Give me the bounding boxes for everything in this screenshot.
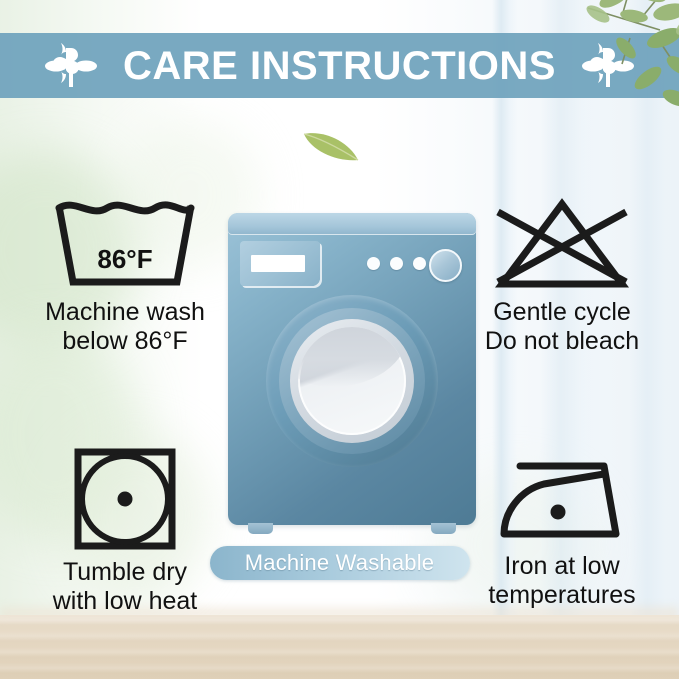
symbol-caption-machine-wash: Machine wash below 86°F [45, 298, 205, 356]
indicator-light [367, 257, 380, 270]
fleur-de-lis-right-icon [582, 43, 634, 89]
fleur-de-lis-left-icon [45, 43, 97, 89]
washer-door-glass [298, 327, 406, 435]
floating-leaf-icon [300, 124, 362, 166]
indicator-light [413, 257, 426, 270]
washing-machine-illustration [228, 213, 476, 525]
tumble-dry-low-icon [70, 446, 180, 552]
indicator-light [390, 257, 403, 270]
symbol-tumble-dry: Tumble dry with low heat [14, 446, 236, 616]
symbol-caption-iron: Iron at low temperatures [488, 552, 635, 610]
triangle-crossed-out-icon-wrap [488, 196, 636, 292]
wash-temperature-value: 86°F [51, 244, 199, 275]
symbol-caption-tumble-dry: Tumble dry with low heat [53, 558, 198, 616]
symbol-iron-low: Iron at low temperatures [451, 446, 673, 610]
machine-washable-badge-label: Machine Washable [245, 550, 434, 576]
care-instructions-infographic: CARE INSTRUCTIONS 86°F Machine wash belo… [0, 0, 679, 679]
page-title: CARE INSTRUCTIONS [123, 46, 556, 86]
washer-foot-left [248, 523, 273, 534]
detergent-drawer-slot [251, 255, 305, 272]
symbol-machine-wash: 86°F Machine wash below 86°F [14, 196, 236, 356]
washer-door-inner-ring [290, 319, 414, 443]
triangle-crossed-out-icon [488, 196, 636, 292]
washer-top-panel [228, 213, 476, 235]
symbol-gentle-cycle-no-bleach: Gentle cycle Do not bleach [451, 196, 673, 356]
symbol-caption-gentle-cycle: Gentle cycle Do not bleach [485, 298, 639, 356]
tumble-dry-low-icon-wrap [70, 446, 180, 552]
washer-door-mid-ring [279, 308, 425, 454]
wash-tub-icon-wrap: 86°F [51, 196, 199, 292]
header-banner: CARE INSTRUCTIONS [0, 33, 679, 98]
machine-washable-badge: Machine Washable [210, 546, 470, 580]
detergent-drawer [240, 241, 320, 286]
table-wood-grain [0, 615, 679, 679]
washer-door-outer-ring [266, 295, 438, 467]
iron-low-icon [492, 446, 632, 546]
washer-indicator-lights [367, 257, 426, 270]
iron-low-icon-wrap [492, 446, 632, 546]
